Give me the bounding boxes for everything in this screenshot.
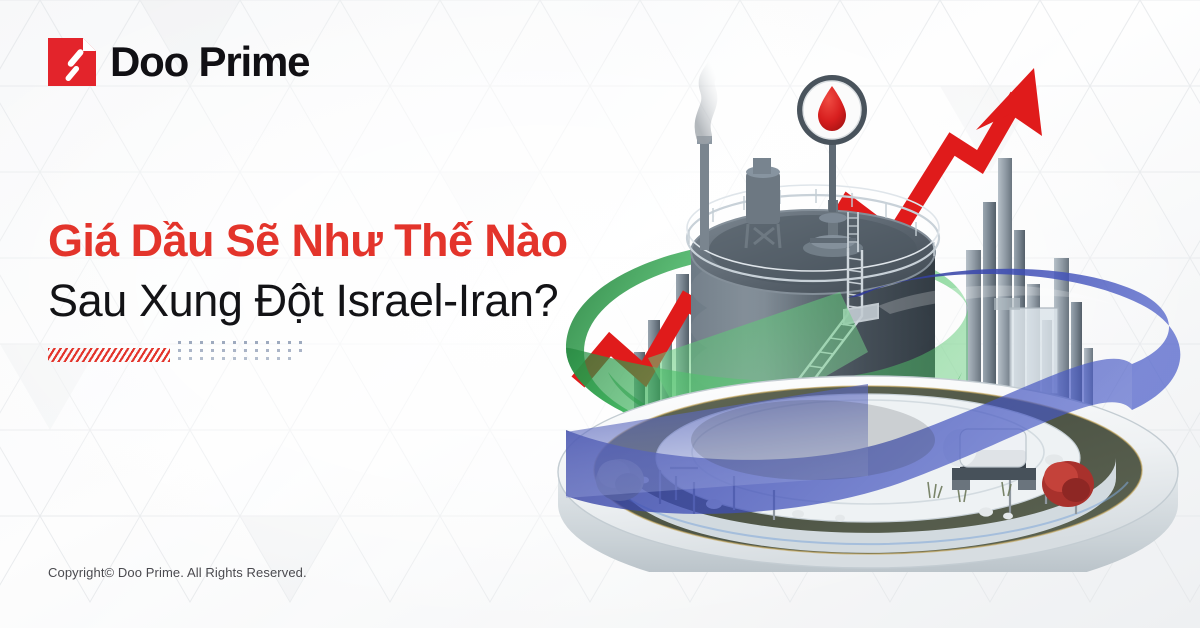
oil-drop-gauge-sign: [797, 75, 867, 212]
decorative-divider: [48, 340, 318, 366]
doo-prime-mark-icon: [48, 38, 96, 86]
dot-grid-icon: [176, 340, 316, 366]
brand-wordmark: Doo Prime: [110, 41, 309, 83]
brand-logo[interactable]: Doo Prime: [48, 38, 309, 86]
hatch-bar-icon: [48, 348, 170, 362]
illustration-svg: [548, 52, 1200, 572]
copyright-text: Copyright© Doo Prime. All Rights Reserve…: [48, 565, 307, 580]
oil-tank-illustration: [548, 52, 1200, 572]
banner-root: Doo Prime Giá Dầu Sẽ Như Thế Nào Sau Xun…: [0, 0, 1200, 628]
red-shrub: [1042, 461, 1094, 507]
